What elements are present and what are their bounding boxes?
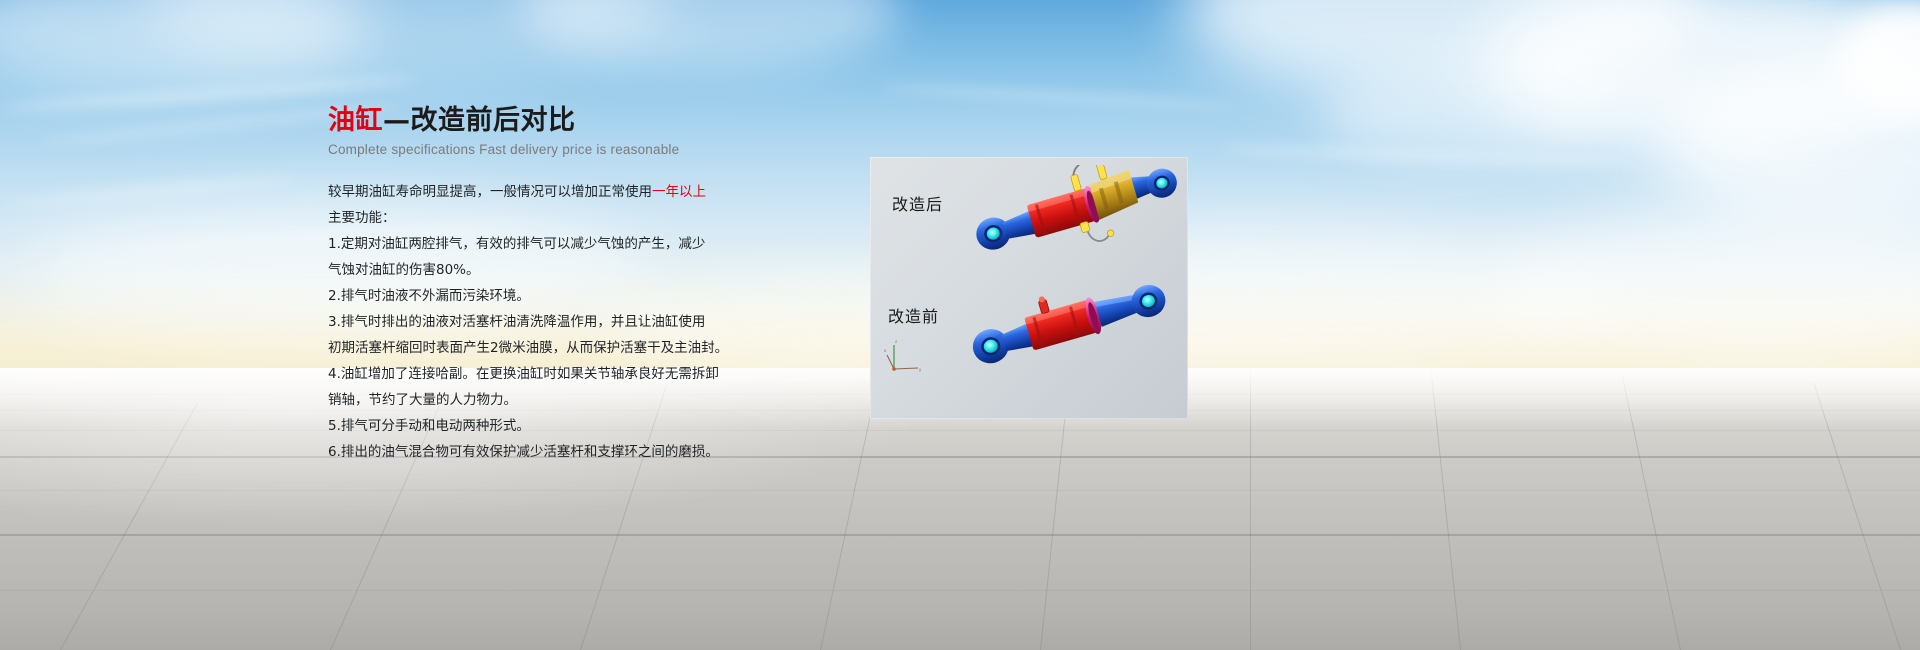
list-item: 气蚀对油缸的伤害80%。 (328, 257, 748, 283)
list-item: 6.排出的油气混合物可有效保护减少活塞杆和支撑环之间的磨损。 (328, 439, 748, 465)
list-item-text: 销轴，节约了大量的人力物力。 (328, 392, 517, 408)
list-item-text: 4.油缸增加了连接哈副。在更换油缸时如果关节轴承良好无需拆卸 (328, 366, 719, 382)
ground-tile-line (0, 490, 1920, 491)
product-image-panel: 改造后 改造前 x z y (870, 157, 1188, 419)
svg-text:x: x (884, 348, 887, 353)
list-item: 5.排气可分手动和电动两种形式。 (328, 413, 748, 439)
list-item: 4.油缸增加了连接哈副。在更换油缸时如果关节轴承良好无需拆卸 (328, 361, 748, 387)
label-after-modification: 改造后 (892, 191, 943, 215)
copy-block: 油缸—改造前后对比 Complete specifications Fast d… (328, 104, 748, 465)
page-subtitle: Complete specifications Fast delivery pr… (328, 142, 748, 157)
ground-tile-line (0, 534, 1920, 536)
page-title: 油缸—改造前后对比 (328, 104, 748, 138)
list-item-text: 2.排气时油液不外漏而污染环境。 (328, 288, 530, 304)
list-item: 较早期油缸寿命明显提高，一般情况可以增加正常使用一年以上 (328, 179, 748, 205)
cylinder-assembly-after (966, 165, 1182, 285)
svg-text:z: z (895, 339, 897, 344)
cloud-shape (1320, 70, 1620, 160)
ground-perspective-line (60, 403, 198, 650)
svg-text:y: y (919, 367, 922, 372)
list-item-highlight: 一年以上 (652, 184, 706, 200)
list-item-text: 3.排气时排出的油液对活塞杆油清洗降温作用，并且让油缸使用 (328, 314, 705, 330)
list-item-text: 5.排气可分手动和电动两种形式。 (328, 418, 530, 434)
list-item: 主要功能： (328, 205, 748, 231)
cylinder-assembly-before (966, 275, 1182, 405)
ground-tile-line (0, 456, 1920, 458)
list-item-text: 6.排出的油气混合物可有效保护减少活塞杆和支撑环之间的磨损。 (328, 444, 719, 460)
list-item: 初期活塞杆缩回时表面产生2微米油膜，从而保护活塞干及主油封。 (328, 335, 748, 361)
label-before-modification: 改造前 (888, 303, 939, 327)
ground-tile-line (0, 430, 1920, 431)
list-item-text: 初期活塞杆缩回时表面产生2微米油膜，从而保护活塞干及主油封。 (328, 340, 728, 356)
list-item: 2.排气时油液不外漏而污染环境。 (328, 283, 748, 309)
cloud-shape (1500, 210, 1920, 370)
title-rest: —改造前后对比 (383, 105, 576, 136)
title-highlight: 油缸 (328, 105, 383, 136)
cloud-wisp (880, 83, 1240, 112)
list-item-text: 气蚀对油缸的伤害80%。 (328, 262, 480, 278)
coordinate-axis-icon: x z y (884, 335, 928, 375)
banner-stage: 油缸—改造前后对比 Complete specifications Fast d… (0, 0, 1920, 650)
list-item: 1.定期对油缸两腔排气，有效的排气可以减少气蚀的产生，减少 (328, 231, 748, 257)
list-item-text: 主要功能： (328, 210, 396, 226)
list-item: 3.排气时排出的油液对活塞杆油清洗降温作用，并且让油缸使用 (328, 309, 748, 335)
list-item-text: 1.定期对油缸两腔排气，有效的排气可以减少气蚀的产生，减少 (328, 236, 705, 252)
list-item: 销轴，节约了大量的人力物力。 (328, 387, 748, 413)
feature-list: 较早期油缸寿命明显提高，一般情况可以增加正常使用一年以上 主要功能： 1.定期对… (328, 179, 748, 465)
ground-tile-line (0, 590, 1920, 591)
list-item-text: 较早期油缸寿命明显提高，一般情况可以增加正常使用 (328, 184, 652, 200)
